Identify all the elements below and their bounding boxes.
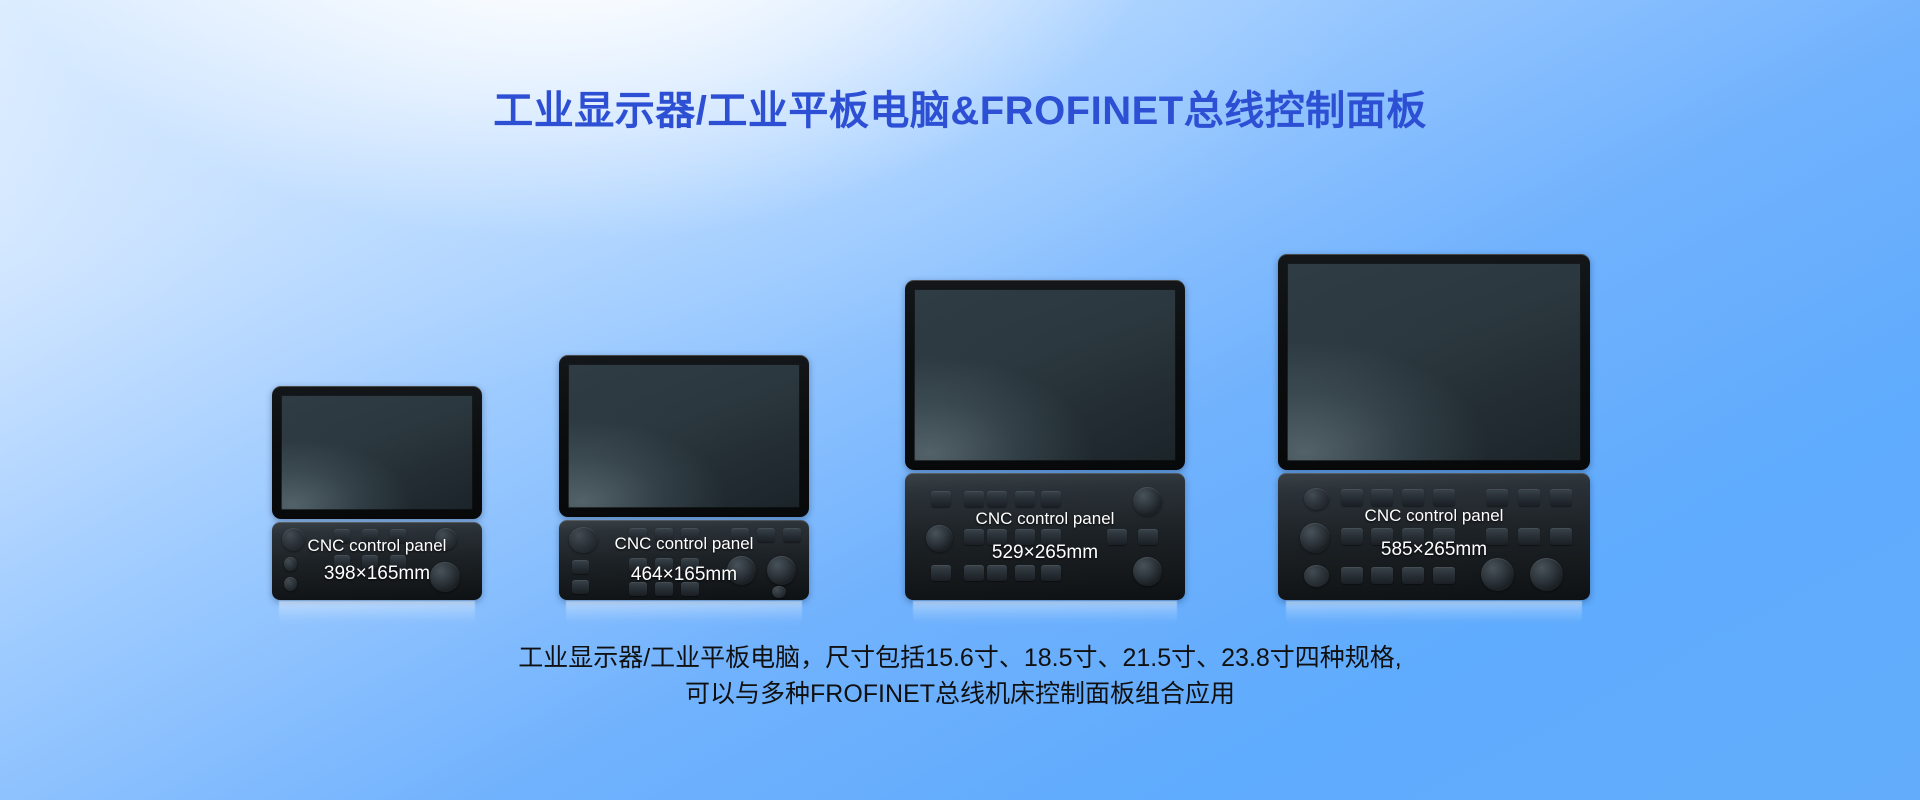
cnc-control-panel-464[interactable]: CNC control panel 464×165mm [559, 520, 809, 600]
knob-icon[interactable] [1304, 565, 1329, 587]
panel-button[interactable] [1433, 567, 1455, 584]
panel-button[interactable] [1402, 567, 1424, 584]
knob-icon[interactable] [1530, 558, 1563, 591]
panel-button[interactable] [987, 565, 1007, 581]
knob-icon[interactable] [1481, 558, 1514, 591]
panel-button[interactable] [1518, 489, 1540, 506]
panel-button[interactable] [1015, 491, 1035, 507]
floor-reflection [1286, 601, 1582, 627]
panel-button[interactable] [1402, 489, 1424, 506]
panel-button[interactable] [1550, 489, 1572, 506]
panel-button[interactable] [1371, 489, 1393, 506]
panel-button[interactable] [987, 491, 1007, 507]
screen-display [1287, 263, 1581, 461]
panel-button[interactable] [964, 565, 984, 581]
cnc-panel-label: CNC control panel [1278, 506, 1590, 526]
product-item-464[interactable]: CNC control panel 464×165mm [559, 355, 809, 600]
cnc-size-label: 398×165mm [272, 563, 482, 585]
panel-button[interactable] [1341, 567, 1363, 584]
panel-button[interactable] [1486, 489, 1508, 506]
banner-canvas: 工业显示器/工业平板电脑&FROFINET总线控制面板 CNC control … [0, 0, 1920, 800]
monitor-398 [272, 386, 482, 519]
cnc-control-panel-585[interactable]: CNC control panel 585×265mm [1278, 473, 1590, 600]
screen-display [568, 364, 800, 508]
cnc-control-panel-398[interactable]: CNC control panel 398×165mm [272, 522, 482, 600]
panel-button[interactable] [1015, 565, 1035, 581]
cnc-size-label: 529×265mm [905, 542, 1185, 564]
product-item-585[interactable]: CNC control panel 585×265mm [1278, 254, 1590, 600]
floor-reflection [279, 601, 475, 627]
product-lineup: CNC control panel 398×165mm [0, 200, 1920, 600]
cnc-panel-label: CNC control panel [905, 509, 1185, 529]
monitor-529 [905, 280, 1185, 470]
page-title: 工业显示器/工业平板电脑&FROFINET总线控制面板 [0, 78, 1920, 136]
monitor-464 [559, 355, 809, 517]
floor-reflection [913, 601, 1177, 627]
cnc-control-panel-529[interactable]: CNC control panel 529×265mm [905, 473, 1185, 600]
knob-icon[interactable] [772, 586, 786, 598]
cnc-size-label: 464×165mm [559, 564, 809, 586]
screen-display [281, 395, 473, 510]
product-item-529[interactable]: CNC control panel 529×265mm [905, 280, 1185, 600]
panel-button[interactable] [1433, 489, 1455, 506]
product-item-398[interactable]: CNC control panel 398×165mm [272, 386, 482, 600]
monitor-585 [1278, 254, 1590, 470]
cnc-panel-label: CNC control panel [559, 534, 809, 554]
caption-line-2: 可以与多种FROFINET总线机床控制面板组合应用 [0, 676, 1920, 712]
panel-button[interactable] [1341, 489, 1363, 506]
screen-display [914, 289, 1176, 461]
floor-reflection [566, 601, 802, 627]
cnc-size-label: 585×265mm [1278, 539, 1590, 561]
caption-line-1: 工业显示器/工业平板电脑，尺寸包括15.6寸、18.5寸、21.5寸、23.8寸… [0, 640, 1920, 676]
panel-button[interactable] [931, 565, 951, 581]
panel-button[interactable] [931, 491, 951, 507]
panel-button[interactable] [1371, 567, 1393, 584]
panel-button[interactable] [1041, 491, 1061, 507]
caption-block: 工业显示器/工业平板电脑，尺寸包括15.6寸、18.5寸、21.5寸、23.8寸… [0, 640, 1920, 712]
panel-button[interactable] [964, 491, 984, 507]
panel-button[interactable] [1041, 565, 1061, 581]
cnc-panel-label: CNC control panel [272, 536, 482, 556]
